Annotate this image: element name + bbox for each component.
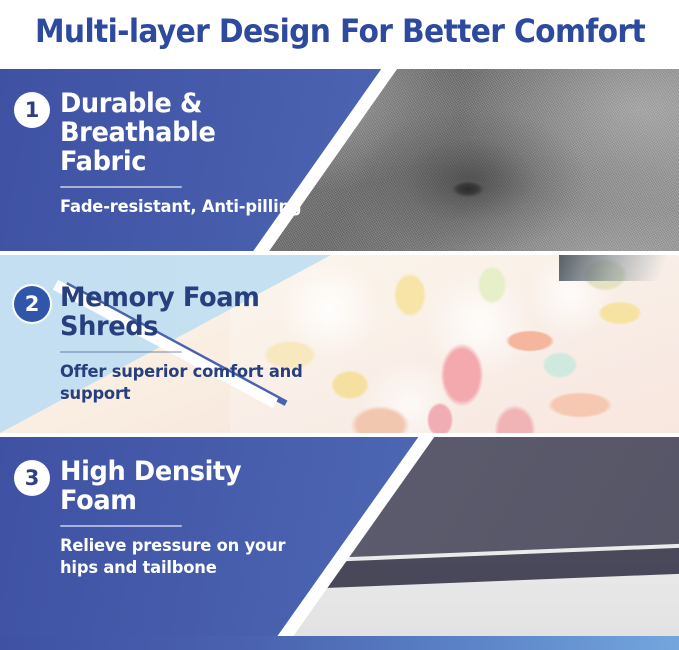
infographic-root: Multi-layer Design For Better Comfort 1 … (0, 0, 679, 650)
bottom-accent-bar (0, 636, 679, 650)
page-title: Multi-layer Design For Better Comfort (34, 12, 644, 50)
panel-1-heading-row: 1 Durable & Breathable Fabric (14, 89, 314, 176)
panel-3-heading-row: 3 High Density Foam (14, 457, 314, 515)
layer-subtext-3: Relieve pressure on your hips and tailbo… (60, 535, 304, 579)
shreds-photo-shadow (559, 255, 679, 281)
layer-number-badge-2: 2 (14, 286, 50, 322)
layer-panel-1: 1 Durable & Breathable Fabric Fade-resis… (0, 69, 679, 251)
layer-subtext-1: Fade-resistant, Anti-pilling (60, 196, 304, 218)
panel-1-divider (60, 186, 182, 188)
panel-2-divider (60, 351, 182, 353)
layer-heading-3: High Density Foam (60, 457, 301, 515)
layer-panel-3: 3 High Density Foam Relieve pressure on … (0, 437, 679, 636)
panel-3-content: 3 High Density Foam Relieve pressure on … (14, 457, 314, 580)
panel-2-content: 2 Memory Foam Shreds Offer superior comf… (14, 283, 314, 406)
layer-number-badge-3: 3 (14, 460, 50, 496)
title-bar: Multi-layer Design For Better Comfort (0, 0, 679, 62)
layer-subtext-2: Offer superior comfort and support (60, 361, 304, 405)
layer-panel-2: 2 Memory Foam Shreds Offer superior comf… (0, 255, 679, 433)
layer-heading-2: Memory Foam Shreds (60, 283, 301, 341)
layer-number-badge-1: 1 (14, 92, 50, 128)
layer-heading-1: Durable & Breathable Fabric (60, 89, 301, 176)
panel-1-content: 1 Durable & Breathable Fabric Fade-resis… (14, 89, 314, 219)
panel-3-divider (60, 525, 182, 527)
panel-2-heading-row: 2 Memory Foam Shreds (14, 283, 314, 341)
